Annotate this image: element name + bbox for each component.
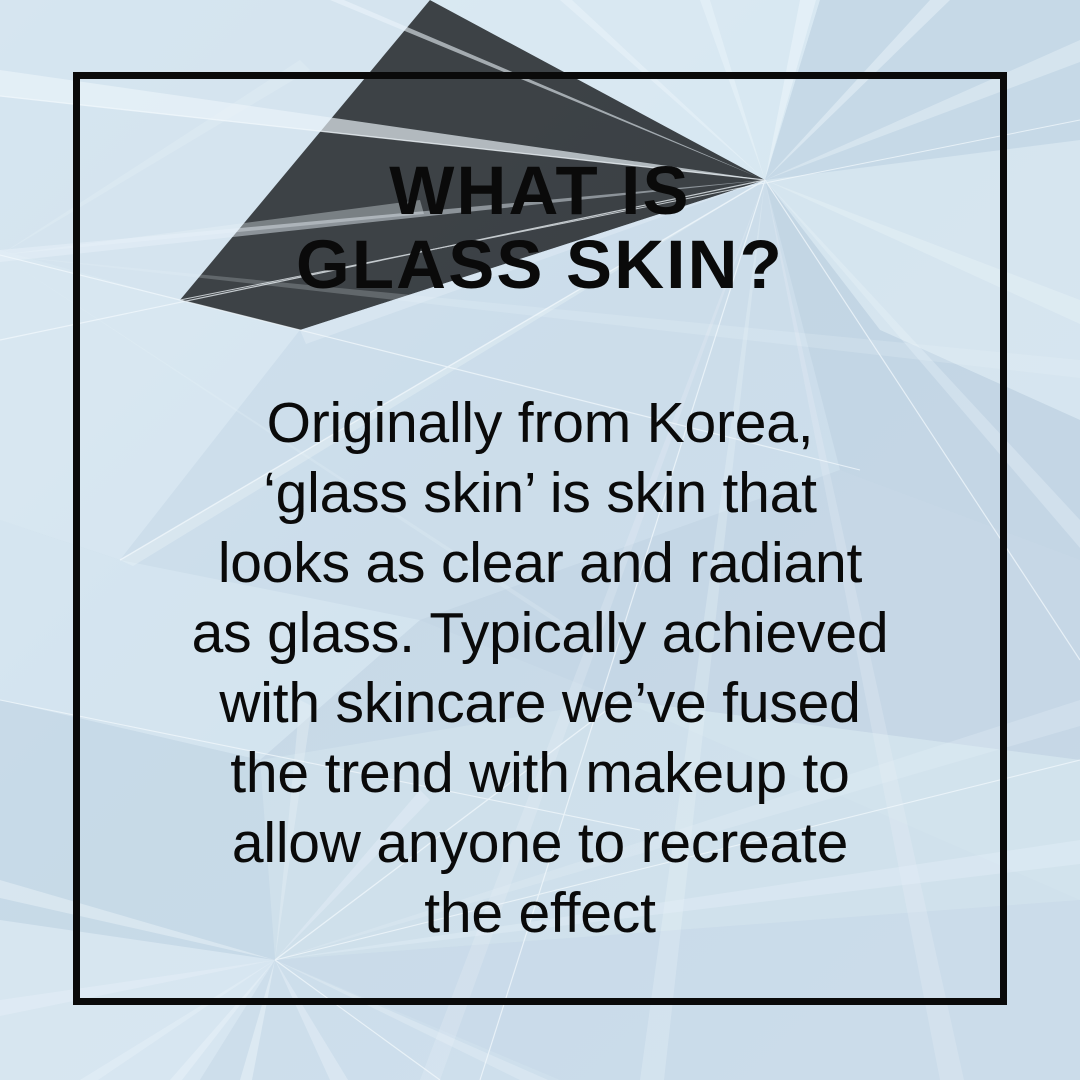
card-content: WHAT IS GLASS SKIN? Originally from Kore… [73, 72, 1007, 1005]
page-title: WHAT IS GLASS SKIN? [296, 154, 784, 302]
glass-skin-card: WHAT IS GLASS SKIN? Originally from Kore… [0, 0, 1080, 1080]
body-paragraph: Originally from Korea, ‘glass skin’ is s… [192, 388, 889, 948]
